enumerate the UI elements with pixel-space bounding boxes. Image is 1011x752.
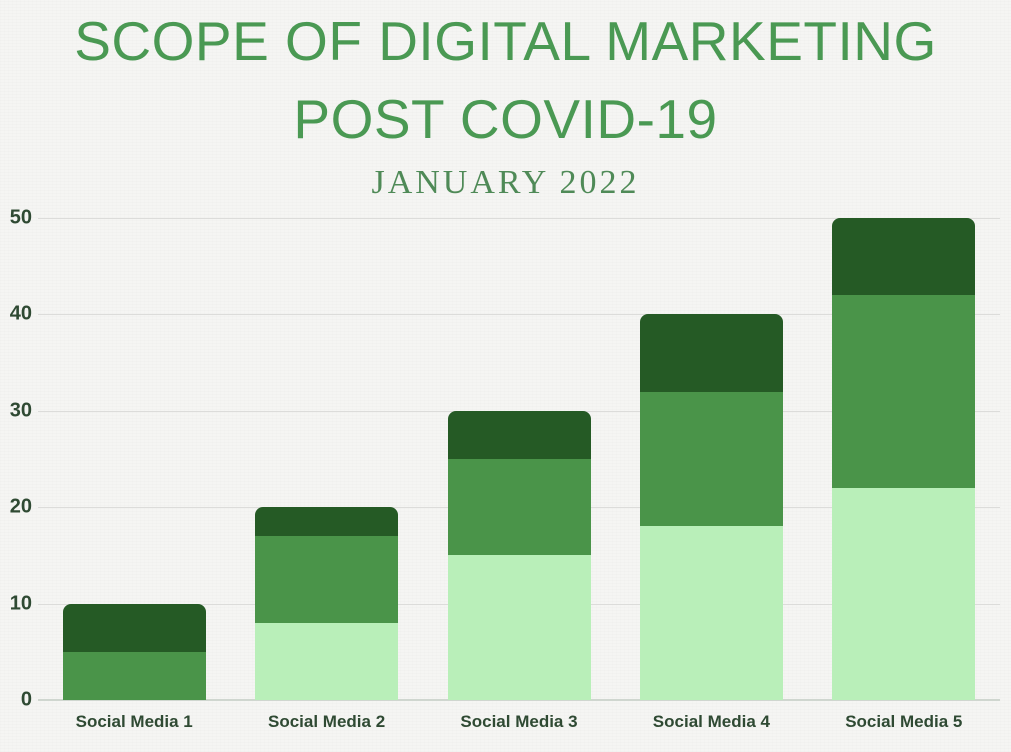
bar-2-segment-3[interactable]: [255, 507, 398, 536]
bar-4-segment-2[interactable]: [640, 392, 783, 527]
x-axis-label-2: Social Media 2: [230, 712, 422, 732]
bar-3-segment-3[interactable]: [448, 411, 591, 459]
page-title-line-1: SCOPE OF DIGITAL MARKETING: [0, 2, 1011, 80]
bar-4-segment-1[interactable]: [640, 526, 783, 700]
bar-2-segment-2[interactable]: [255, 536, 398, 623]
x-axis-label-5: Social Media 5: [808, 712, 1000, 732]
y-axis-tick-label: 0: [0, 689, 32, 712]
slide-canvas: SCOPE OF DIGITAL MARKETING POST COVID-19…: [0, 0, 1011, 752]
bar-4-segment-3[interactable]: [640, 314, 783, 391]
bar-2-segment-1[interactable]: [255, 623, 398, 700]
x-axis-label-4: Social Media 4: [615, 712, 807, 732]
title-block: SCOPE OF DIGITAL MARKETING POST COVID-19…: [0, 2, 1011, 204]
x-axis-label-3: Social Media 3: [423, 712, 615, 732]
stacked-bar-chart: 01020304050 Social Media 1Social Media 2…: [0, 200, 1011, 752]
page-subtitle: JANUARY 2022: [0, 162, 1011, 204]
bar-1-segment-2[interactable]: [63, 652, 206, 700]
y-axis-tick-label: 10: [0, 592, 32, 615]
bar-3-segment-1[interactable]: [448, 555, 591, 700]
bar-4[interactable]: [640, 314, 783, 700]
x-axis-label-1: Social Media 1: [38, 712, 230, 732]
y-axis-tick-label: 40: [0, 303, 32, 326]
bar-5-segment-2[interactable]: [832, 295, 975, 488]
bar-3[interactable]: [448, 411, 591, 700]
bar-1-segment-3[interactable]: [63, 604, 206, 652]
bar-2[interactable]: [255, 507, 398, 700]
page-title-line-2: POST COVID-19: [0, 80, 1011, 158]
y-axis-tick-label: 50: [0, 207, 32, 230]
bar-5-segment-1[interactable]: [832, 488, 975, 700]
chart-plot-area: [38, 218, 1000, 700]
bar-5[interactable]: [832, 218, 975, 700]
y-axis-tick-label: 30: [0, 399, 32, 422]
bar-3-segment-2[interactable]: [448, 459, 591, 555]
bar-5-segment-3[interactable]: [832, 218, 975, 295]
bar-1[interactable]: [63, 604, 206, 700]
y-axis-tick-label: 20: [0, 496, 32, 519]
